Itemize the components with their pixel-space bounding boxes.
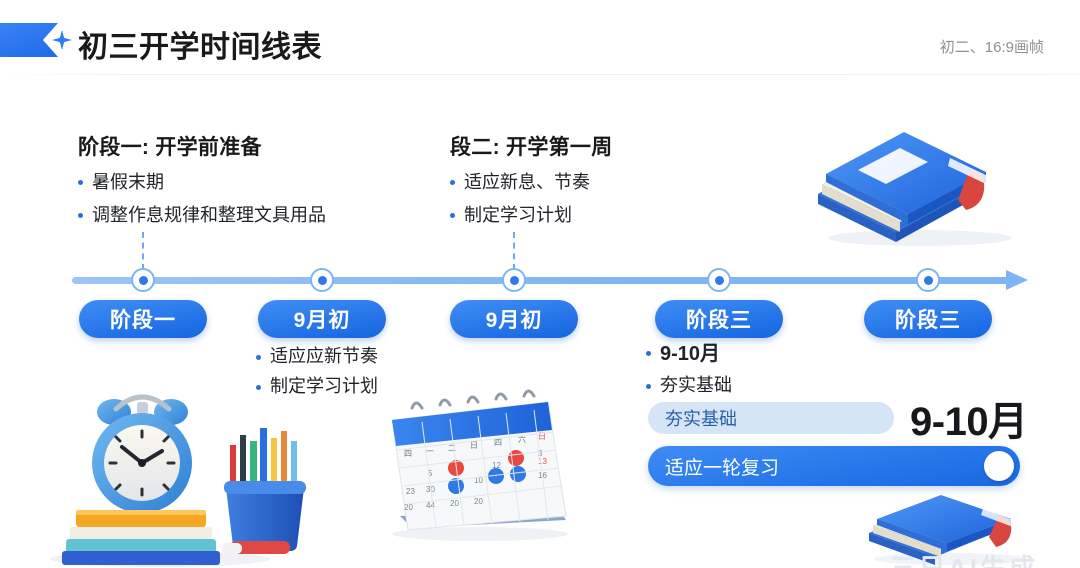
stage-section-2: 段二: 开学第一周 适应新息、节奏 制定学习计划: [450, 131, 613, 228]
blue-book-illustration-top: [800, 128, 1030, 248]
sparkle-icon: [52, 30, 72, 50]
bullet-dot-icon: [78, 213, 83, 218]
timeline-pill[interactable]: 阶段一: [79, 300, 207, 338]
timeline-dashed-connector: [513, 232, 515, 270]
stage-section-2-title: 段二: 开学第一周: [450, 131, 613, 161]
bullet-dot-icon: [450, 180, 455, 185]
svg-text:44: 44: [426, 501, 435, 510]
bullet-dot-icon: [78, 180, 83, 185]
stage-section-1-title: 阶段一: 开学前准备: [78, 131, 326, 161]
stage-section-1-bullet: 调整作息规律和整理文具用品: [78, 203, 326, 227]
progress-toggle-pill[interactable]: 适应一轮复习: [648, 446, 1020, 486]
svg-text:二: 二: [448, 444, 456, 453]
header-note: 初二、16:9画帧: [940, 36, 1044, 57]
svg-text:日: 日: [470, 441, 478, 450]
svg-text:20: 20: [450, 499, 459, 508]
svg-text:20: 20: [474, 497, 483, 506]
timeline-dot-icon: [709, 270, 729, 290]
timeline-dot-icon: [133, 270, 153, 290]
alarm-clock-books-pencils-illustration: [40, 383, 310, 568]
progress-toggle-label: 适应一轮复习: [665, 453, 779, 480]
timeline-pill[interactable]: 阶段三: [864, 300, 992, 338]
page-header: 初三开学时间线表 初二、16:9画帧: [0, 0, 1080, 75]
timeline-dot-icon: [312, 270, 332, 290]
toggle-knob[interactable]: [984, 451, 1014, 481]
svg-text:四: 四: [404, 449, 412, 458]
timeline-arrow-icon: [1006, 270, 1028, 290]
stage-section-1-bullet: 暑假末期: [78, 170, 326, 194]
svg-text:20: 20: [404, 503, 413, 512]
bullet-dot-icon: [646, 351, 651, 356]
bullet-dot-icon: [646, 384, 651, 389]
svg-text:23: 23: [406, 487, 415, 496]
bullet-label: 夯实基础: [660, 374, 732, 397]
bullet-label: 暑假末期: [92, 170, 164, 194]
bullet-label: 调整作息规律和整理文具用品: [92, 203, 326, 227]
desk-calendar-illustration: 四一二 日四六 日 23 51213 23301016 20442020: [370, 388, 585, 543]
bullet-label: 适应新息、节奏: [464, 170, 590, 194]
bullet-label: 9-10月: [660, 341, 720, 367]
timeline-dashed-connector: [142, 232, 144, 270]
under-timeline-bullet: 9-10月: [646, 341, 732, 367]
progress-pill-light[interactable]: 夯实基础: [648, 402, 894, 434]
stage-section-2-bullet: 适应新息、节奏: [450, 170, 613, 194]
bullet-dot-icon: [256, 355, 261, 360]
svg-text:四: 四: [494, 438, 502, 447]
timeline-pill[interactable]: 9月初: [258, 300, 386, 338]
ribbon-banner-icon: [0, 23, 58, 57]
timeline-axis: [72, 277, 1012, 284]
timeline-dot-icon: [918, 270, 938, 290]
timeline-pill[interactable]: 9月初: [450, 300, 578, 338]
timeline-pill[interactable]: 阶段三: [655, 300, 783, 338]
timeline-dot-icon: [504, 270, 524, 290]
bullet-label: 适应应新节奏: [270, 345, 378, 368]
under-timeline-block-4: 9-10月 夯实基础: [646, 334, 732, 397]
under-timeline-bullet: 夯实基础: [646, 374, 732, 397]
bullet-label: 制定学习计划: [464, 203, 572, 227]
svg-text:13: 13: [538, 457, 547, 466]
stage-section-2-bullet: 制定学习计划: [450, 203, 613, 227]
watermark: 三只AI生成: [890, 548, 1038, 568]
page-title: 初三开学时间线表: [78, 22, 322, 66]
stage-section-1: 阶段一: 开学前准备 暑假末期 调整作息规律和整理文具用品: [78, 131, 326, 228]
big-month-label: 9-10月: [910, 389, 1028, 447]
bullet-dot-icon: [450, 213, 455, 218]
progress-pill-light-label: 夯实基础: [665, 405, 737, 431]
svg-text:一: 一: [426, 447, 434, 456]
under-timeline-bullet: 适应应新节奏: [256, 345, 378, 368]
header-divider: [0, 74, 1080, 75]
